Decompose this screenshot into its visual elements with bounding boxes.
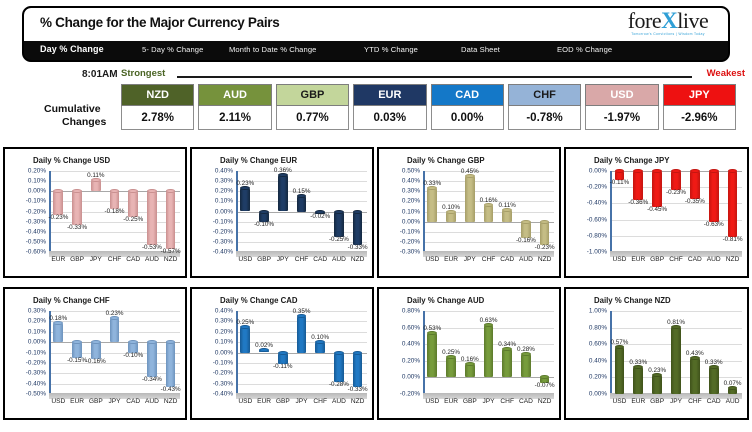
bar-gbp [652, 375, 662, 394]
bar-series: 0.25%0.02%-0.11%0.35%0.10%-0.28%-0.33% [236, 311, 367, 394]
cumulative-label-line2: Changes [62, 116, 106, 128]
y-axis-tick: 0.40% [202, 168, 236, 175]
bar-cap [166, 189, 176, 193]
data-label-eur: 0.25% [442, 349, 460, 356]
cumulative-value-usd: -1.97% [585, 106, 658, 130]
strength-axis-line [177, 76, 692, 78]
y-axis-tick: -0.20% [15, 208, 49, 215]
bar-series: 0.33%0.10%0.45%0.16%0.11%-0.16%-0.23% [423, 171, 554, 252]
y-axis-tick: 0.40% [389, 341, 423, 348]
x-label-gbp: GBP [276, 398, 290, 405]
bar-chf [690, 358, 700, 394]
chart-panel-eur: Daily % Change EUR0.40%0.30%0.20%0.10%0.… [190, 147, 374, 278]
data-label-nzd: -0.07% [535, 382, 555, 389]
data-label-cad: 0.11% [499, 202, 516, 209]
logo-pre: fore [628, 8, 661, 33]
chart-panel-nzd: Daily % Change NZD1.00%0.80%0.60%0.40%0.… [564, 287, 749, 420]
x-axis-labels: USDEURGBPJPYCHFCADAUD [610, 398, 742, 412]
bar-cap [540, 375, 550, 379]
x-label-chf: CHF [313, 398, 327, 405]
header-bar: % Change for the Major Currency Pairs fo… [22, 6, 730, 62]
cumulative-value-eur: 0.03% [353, 106, 426, 130]
plot-area-jpy: 0.00%-0.20%-0.40%-0.60%-0.80%-1.00%-0.11… [610, 171, 742, 252]
bar-eur [633, 367, 643, 394]
cumulative-cell-aud: AUD2.11% [198, 84, 271, 132]
bar-usd [615, 347, 625, 394]
chart-panel-chf: Daily % Change CHF0.30%0.20%0.10%0.00%-0… [3, 287, 187, 420]
y-axis-tick: -0.10% [389, 228, 423, 235]
data-label-usd: 0.18% [49, 315, 67, 322]
bar-jpy [484, 325, 494, 377]
chart-title-chf: Daily % Change CHF [33, 296, 110, 305]
y-axis-tick: -0.30% [202, 380, 236, 387]
cumulative-cell-gbp: GBP0.77% [276, 84, 349, 132]
data-label-gbp: -0.11% [273, 363, 292, 370]
bar-series: -0.23%-0.33%0.11%-0.18%-0.25%-0.53%-0.57… [49, 171, 180, 252]
plot-area-aud: 0.80%0.60%0.40%0.20%0.00%-0.20%0.53%0.25… [423, 311, 554, 394]
y-axis-tick: 0.00% [576, 391, 610, 398]
x-label-nzd: NZD [538, 398, 552, 405]
x-label-usd: USD [425, 398, 439, 405]
x-label-jpy: JPY [90, 256, 102, 263]
y-axis-tick: 0.60% [576, 341, 610, 348]
x-label-gbp: GBP [89, 398, 103, 405]
x-label-nzd: NZD [538, 256, 552, 263]
bar-cad [502, 210, 512, 221]
x-label-gbp: GBP [463, 398, 477, 405]
y-axis-tick: 0.20% [202, 188, 236, 195]
y-axis-tick: -0.40% [576, 200, 610, 207]
chart-title-usd: Daily % Change USD [33, 156, 110, 165]
x-label-nzd: NZD [164, 256, 178, 263]
chart-panel-cad: Daily % Change CAD0.40%0.30%0.20%0.10%0.… [190, 287, 374, 420]
x-label-eur: EUR [631, 256, 645, 263]
y-axis-tick: -0.50% [15, 391, 49, 398]
strongest-label: Strongest [121, 68, 165, 79]
currency-code-gbp: GBP [276, 84, 349, 106]
y-axis-tick: 0.00% [389, 218, 423, 225]
x-axis-labels: USDEURJPYCHFCADAUDNZD [423, 256, 554, 270]
bar-gbp [91, 342, 101, 359]
data-label-cad: -0.35% [685, 198, 705, 205]
y-axis-tick: 0.10% [202, 198, 236, 205]
bar-nzd [353, 212, 363, 245]
bar-eur [53, 191, 63, 214]
chart-title-nzd: Daily % Change NZD [594, 296, 671, 305]
data-label-cad: 0.33% [705, 359, 723, 366]
data-label-cad: 0.28% [517, 346, 535, 353]
y-axis-tick: -0.30% [15, 218, 49, 225]
y-axis-tick: -1.00% [576, 249, 610, 256]
data-label-cad: -0.25% [123, 216, 143, 223]
data-label-chf: -0.18% [105, 208, 125, 215]
y-axis-tick: 0.40% [389, 178, 423, 185]
data-label-jpy: 0.81% [667, 319, 685, 326]
bar-aud [147, 191, 157, 245]
nav-tab-day-change[interactable]: Day % Change [40, 44, 104, 54]
data-label-gbp: -0.45% [647, 206, 667, 213]
currency-code-nzd: NZD [121, 84, 194, 106]
bar-cad [709, 367, 719, 394]
x-label-usd: USD [425, 256, 439, 263]
bar-gbp [652, 171, 662, 207]
currency-code-aud: AUD [198, 84, 271, 106]
data-label-nzd: -0.33% [348, 386, 368, 393]
data-label-chf: 0.43% [686, 350, 704, 357]
bar-cap [728, 169, 738, 173]
x-label-gbp: GBP [650, 256, 664, 263]
bar-cap [540, 220, 550, 224]
x-label-cad: CAD [126, 256, 140, 263]
data-label-gbp: -0.16% [86, 358, 106, 365]
y-axis-tick: 0.20% [389, 198, 423, 205]
x-label-eur: EUR [444, 256, 458, 263]
bar-cad [690, 171, 700, 199]
cumulative-label-line1: Cumulative [44, 103, 101, 115]
y-axis-tick: -0.40% [202, 249, 236, 256]
x-label-eur: EUR [444, 398, 458, 405]
chart-title-eur: Daily % Change EUR [220, 156, 297, 165]
y-axis-tick: -0.50% [15, 238, 49, 245]
x-axis-labels: USDGBPJPYCHFCADAUDNZD [236, 256, 367, 270]
y-axis-tick: 0.60% [389, 324, 423, 331]
cumulative-cell-nzd: NZD2.78% [121, 84, 194, 132]
logo-x: X [661, 8, 677, 33]
chart-title-gbp: Daily % Change GBP [407, 156, 485, 165]
x-label-eur: EUR [631, 398, 645, 405]
bar-cap [128, 189, 138, 193]
bar-jpy [297, 316, 307, 352]
y-axis-tick: -0.20% [389, 238, 423, 245]
data-label-eur: -0.15% [67, 357, 87, 364]
x-label-gbp: GBP [70, 256, 84, 263]
bar-cap [166, 340, 176, 344]
data-label-usd: 0.23% [236, 180, 254, 187]
bar-cap [521, 220, 531, 224]
bar-cap [671, 169, 681, 173]
x-label-chf: CHF [482, 256, 496, 263]
y-axis-tick: 0.00% [389, 374, 423, 381]
data-label-jpy: 0.23% [106, 310, 124, 317]
bar-gbp [72, 191, 82, 224]
y-axis-tick: -0.60% [15, 249, 49, 256]
y-axis-tick: 0.10% [15, 328, 49, 335]
cumulative-cell-cad: CAD0.00% [431, 84, 504, 132]
cumulative-value-gbp: 0.77% [276, 106, 349, 130]
header-title-row: % Change for the Major Currency Pairs fo… [24, 8, 728, 41]
x-label-cad: CAD [707, 398, 721, 405]
bar-usd [427, 333, 437, 377]
bar-jpy [91, 180, 101, 191]
x-label-usd: USD [612, 398, 626, 405]
y-axis-tick: -0.20% [576, 184, 610, 191]
bar-aud [709, 171, 719, 222]
currency-code-cad: CAD [431, 84, 504, 106]
x-axis-labels: USDEURGBPJPYCHFAUDNZD [236, 398, 367, 412]
x-label-cad: CAD [519, 398, 533, 405]
y-axis-tick: -0.40% [202, 391, 236, 398]
plot-area-gbp: 0.50%0.40%0.30%0.20%0.10%0.00%-0.10%-0.2… [423, 171, 554, 252]
data-label-usd: 0.53% [423, 325, 441, 332]
bar-chf [502, 349, 512, 377]
bar-chf [315, 342, 325, 352]
bar-cap [147, 340, 157, 344]
bar-chf [671, 171, 681, 190]
data-label-chf: 0.34% [498, 341, 516, 348]
x-label-jpy: JPY [277, 256, 289, 263]
x-axis-labels: EURGBPJPYCHFCADAUDNZD [49, 256, 180, 270]
y-axis-tick: -0.60% [576, 216, 610, 223]
y-axis-tick: -0.10% [15, 198, 49, 205]
x-label-nzd: NZD [164, 398, 178, 405]
currency-code-chf: CHF [508, 84, 581, 106]
y-axis-tick: -0.80% [576, 232, 610, 239]
y-axis-tick: -0.30% [389, 249, 423, 256]
bar-aud [521, 222, 531, 238]
data-label-usd: 0.25% [236, 319, 254, 326]
data-label-aud: -0.25% [329, 236, 349, 243]
y-axis-tick: 0.10% [389, 208, 423, 215]
bar-gbp [465, 364, 475, 377]
bar-chf [297, 196, 307, 211]
y-axis-tick: -0.20% [202, 228, 236, 235]
y-axis-tick: 0.20% [15, 168, 49, 175]
cumulative-value-cad: 0.00% [431, 106, 504, 130]
x-label-cad: CAD [500, 256, 514, 263]
plot-area-nzd: 1.00%0.80%0.60%0.40%0.20%0.00%0.57%0.33%… [610, 311, 742, 394]
data-label-aud: -0.53% [142, 244, 162, 251]
y-axis-tick: 0.30% [202, 318, 236, 325]
x-label-nzd: NZD [351, 256, 365, 263]
y-axis-tick: 1.00% [576, 308, 610, 315]
y-axis-tick: 0.40% [202, 308, 236, 315]
data-label-jpy: 0.45% [461, 168, 479, 175]
x-label-chf: CHF [669, 256, 683, 263]
y-axis-tick: 0.20% [389, 357, 423, 364]
data-label-usd: -0.11% [610, 179, 629, 186]
data-label-eur: -0.36% [628, 199, 648, 206]
x-label-chf: CHF [688, 398, 702, 405]
data-label-usd: 0.57% [610, 339, 628, 346]
y-axis-tick: 0.00% [15, 339, 49, 346]
bar-aud [728, 388, 738, 394]
x-label-aud: AUD [145, 256, 159, 263]
forexlive-logo: foreXlive Tomorrow's Convictions | Wisdo… [616, 10, 720, 40]
data-label-gbp: 0.23% [648, 367, 666, 374]
nav-tabs: Day % Change5- Day % ChangeMonth to Date… [24, 41, 728, 62]
y-axis-tick: 0.00% [576, 168, 610, 175]
x-label-chf: CHF [295, 256, 309, 263]
y-axis-tick: 0.10% [202, 339, 236, 346]
data-label-eur: 0.33% [629, 359, 647, 366]
currency-code-eur: EUR [353, 84, 426, 106]
bar-aud [147, 342, 157, 377]
logo-tagline: Tomorrow's Convictions | Wisdom Today [616, 32, 720, 37]
bar-series: 0.18%-0.15%-0.16%0.23%-0.10%-0.34%-0.43% [49, 311, 180, 394]
weakest-label: Weakest [707, 68, 745, 79]
bar-jpy [465, 176, 475, 222]
bar-cap [128, 340, 138, 344]
x-label-aud: AUD [519, 256, 533, 263]
plot-area-usd: 0.20%0.10%0.00%-0.10%-0.20%-0.30%-0.40%-… [49, 171, 180, 252]
timestamp: 8:01AM [82, 69, 118, 80]
logo-wordmark: foreXlive [616, 10, 720, 32]
x-label-cad: CAD [126, 398, 140, 405]
bar-chf [484, 205, 494, 221]
bar-cad [521, 354, 531, 377]
chart-panel-gbp: Daily % Change GBP0.50%0.40%0.30%0.20%0.… [377, 147, 561, 278]
x-label-eur: EUR [257, 398, 271, 405]
y-axis-tick: 0.40% [576, 357, 610, 364]
x-label-usd: USD [51, 398, 65, 405]
data-label-nzd: -0.33% [348, 244, 368, 251]
x-label-gbp: GBP [650, 398, 664, 405]
x-label-aud: AUD [707, 256, 721, 263]
data-label-chf: 0.16% [480, 197, 498, 204]
data-label-jpy: 0.11% [87, 172, 104, 179]
bar-eur [446, 357, 456, 378]
data-label-aud: 0.07% [724, 380, 742, 387]
x-label-gbp: GBP [257, 256, 271, 263]
y-axis-tick: -0.10% [202, 359, 236, 366]
bar-nzd [166, 342, 176, 387]
y-axis-tick: 0.30% [202, 178, 236, 185]
y-axis-tick: -0.40% [15, 228, 49, 235]
y-axis-tick: -0.10% [15, 349, 49, 356]
dashboard-root: % Change for the Major Currency Pairs fo… [0, 0, 752, 432]
nav-tab-month-to-date-change[interactable]: Month to Date % Change [229, 45, 316, 54]
bar-nzd [353, 353, 363, 387]
bar-aud [334, 353, 344, 382]
bar-cap [334, 210, 344, 214]
x-label-cad: CAD [688, 256, 702, 263]
x-label-aud: AUD [332, 256, 346, 263]
bar-cap [690, 169, 700, 173]
y-axis-tick: 0.80% [576, 324, 610, 331]
currency-code-usd: USD [585, 84, 658, 106]
data-label-gbp: -0.10% [254, 221, 274, 228]
bar-eur [72, 342, 82, 358]
bar-usd [240, 188, 250, 211]
data-label-aud: -0.28% [329, 381, 349, 388]
cumulative-changes-row: NZD2.78%AUD2.11%GBP0.77%EUR0.03%CAD0.00%… [121, 84, 736, 132]
bar-series: 0.23%-0.10%0.36%0.15%-0.02%-0.25%-0.33% [236, 171, 367, 252]
data-label-chf: -0.23% [666, 189, 686, 196]
bar-cap [353, 351, 363, 355]
bar-eur [446, 212, 456, 222]
bar-cap [353, 210, 363, 214]
cumulative-value-aud: 2.11% [198, 106, 271, 130]
x-label-jpy: JPY [295, 398, 307, 405]
bar-cap [652, 169, 662, 173]
bar-jpy [278, 175, 288, 211]
nav-tab-ytd-change[interactable]: YTD % Change [364, 45, 418, 54]
cumulative-cell-usd: USD-1.97% [585, 84, 658, 132]
cumulative-cell-chf: CHF-0.78% [508, 84, 581, 132]
y-axis-tick: 0.00% [15, 188, 49, 195]
nav-tab-5-day-change[interactable]: 5- Day % Change [142, 45, 203, 54]
bar-usd [240, 327, 250, 353]
bar-cap [709, 169, 719, 173]
data-label-cad: -0.10% [123, 352, 143, 359]
bar-series: 0.53%0.25%0.16%0.63%0.34%0.28%-0.07% [423, 311, 554, 394]
y-axis-tick: -0.20% [389, 391, 423, 398]
y-axis-tick: 0.80% [389, 308, 423, 315]
page-title: % Change for the Major Currency Pairs [40, 15, 279, 30]
y-axis-tick: 0.20% [15, 318, 49, 325]
bar-cap [259, 210, 269, 214]
data-label-eur: 0.02% [255, 342, 273, 349]
bar-cap [72, 340, 82, 344]
cumulative-value-chf: -0.78% [508, 106, 581, 130]
cumulative-value-nzd: 2.78% [121, 106, 194, 130]
data-label-nzd: -0.57% [161, 248, 181, 255]
data-label-chf: 0.15% [293, 188, 311, 195]
data-label-jpy: 0.63% [480, 317, 498, 324]
x-label-jpy: JPY [670, 398, 682, 405]
data-label-cad: -0.02% [310, 213, 330, 220]
plot-area-eur: 0.40%0.30%0.20%0.10%0.00%-0.10%-0.20%-0.… [236, 171, 367, 252]
data-label-gbp: -0.33% [67, 224, 87, 231]
data-label-jpy: 0.35% [293, 308, 311, 315]
bar-cap [110, 189, 120, 193]
bar-jpy [110, 318, 120, 342]
data-label-chf: 0.10% [311, 334, 329, 341]
y-axis-tick: -0.10% [202, 218, 236, 225]
bar-cap [615, 169, 625, 173]
bar-usd [53, 323, 63, 342]
y-axis-tick: 0.00% [202, 349, 236, 356]
data-label-gbp: 0.16% [461, 356, 479, 363]
bar-cap [633, 169, 643, 173]
bar-jpy [671, 327, 681, 394]
x-label-usd: USD [612, 256, 626, 263]
bar-nzd [728, 171, 738, 237]
x-label-usd: USD [238, 398, 252, 405]
nav-tab-eod-change[interactable]: EOD % Change [557, 45, 612, 54]
y-axis-tick: -0.30% [15, 370, 49, 377]
x-label-cad: CAD [313, 256, 327, 263]
chart-panel-jpy: Daily % Change JPY0.00%-0.20%-0.40%-0.60… [564, 147, 749, 278]
bar-cap [72, 189, 82, 193]
x-label-jpy: JPY [108, 398, 120, 405]
data-label-nzd: -0.23% [535, 244, 555, 251]
x-label-chf: CHF [500, 398, 514, 405]
x-label-usd: USD [238, 256, 252, 263]
x-label-nzd: NZD [726, 256, 740, 263]
bar-eur [633, 171, 643, 200]
data-label-jpy: 0.36% [274, 167, 292, 174]
data-label-aud: -0.34% [142, 376, 162, 383]
bar-cap [334, 351, 344, 355]
y-axis-tick: -0.20% [202, 370, 236, 377]
y-axis-tick: 0.30% [389, 188, 423, 195]
bar-nzd [166, 191, 176, 249]
chart-panel-usd: Daily % Change USD0.20%0.10%0.00%-0.10%-… [3, 147, 187, 278]
bar-series: 0.57%0.33%0.23%0.81%0.43%0.33%0.07% [610, 311, 742, 394]
nav-tab-data-sheet[interactable]: Data Sheet [461, 45, 500, 54]
x-label-jpy: JPY [464, 256, 476, 263]
chart-title-jpy: Daily % Change JPY [594, 156, 669, 165]
data-label-eur: 0.10% [442, 204, 460, 211]
x-label-eur: EUR [70, 398, 84, 405]
x-axis-labels: USDEURGBPCHFCADAUDNZD [610, 256, 742, 270]
y-axis-tick: 0.50% [389, 168, 423, 175]
x-label-aud: AUD [726, 398, 740, 405]
data-label-eur: -0.23% [48, 214, 68, 221]
plot-area-cad: 0.40%0.30%0.20%0.10%0.00%-0.10%-0.20%-0.… [236, 311, 367, 394]
x-label-chf: CHF [108, 256, 122, 263]
